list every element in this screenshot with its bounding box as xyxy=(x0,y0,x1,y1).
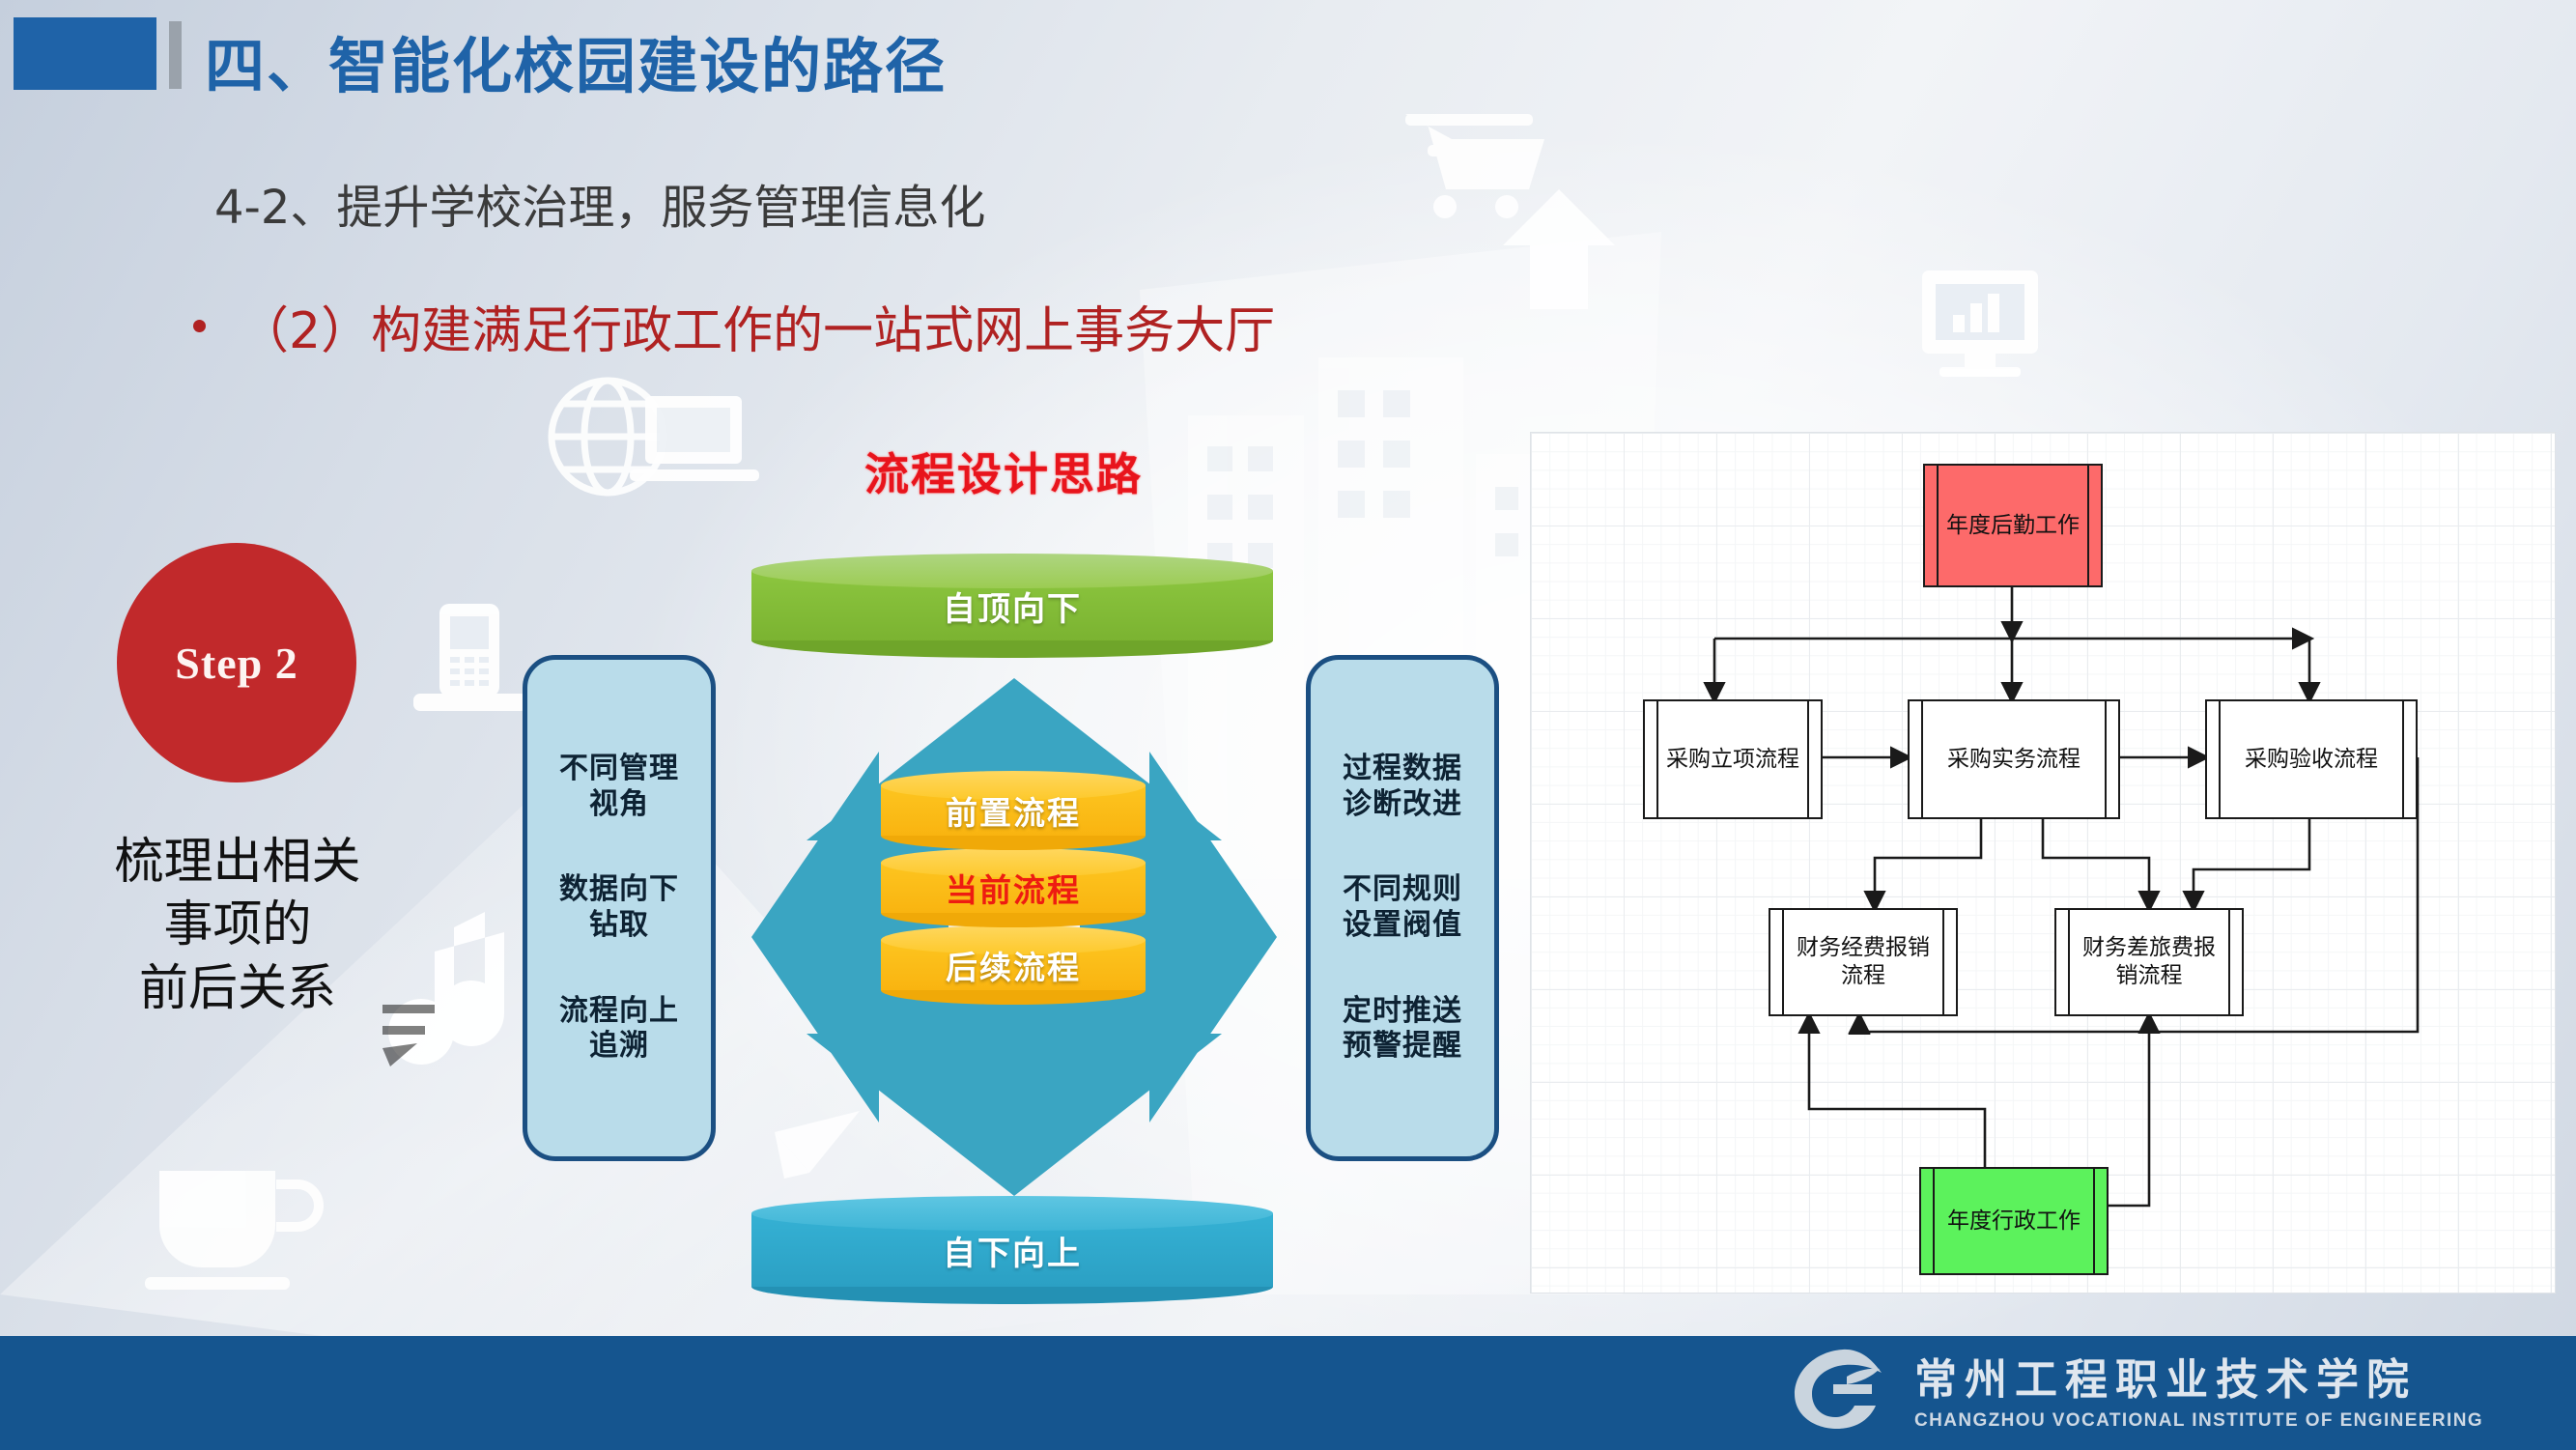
left-info-line: 追溯 xyxy=(559,1029,679,1065)
institution-logo-mark xyxy=(1787,1342,1893,1435)
right-info-line: 过程数据 xyxy=(1343,752,1462,787)
globe-icon xyxy=(552,381,664,493)
flow-node-line: 流程 xyxy=(1841,962,1885,990)
top-down-band: 自顶向下 xyxy=(751,554,1273,658)
slide: 四、智能化校园建设的路径 4-2、提升学校治理，服务管理信息化 （2）构建满足行… xyxy=(0,0,2576,1450)
bullet-text: （2）构建满足行政工作的一站式网上事务大厅 xyxy=(239,290,1275,362)
flow-node-line: 财务经费报销 xyxy=(1797,934,1930,962)
flow-node-expense-reimbursement[interactable]: 财务经费报销 流程 xyxy=(1769,908,1958,1016)
left-info-box: 不同管理 视角 数据向下 钻取 流程向上 追溯 xyxy=(523,655,716,1161)
flow-node-procurement-acceptance[interactable]: 采购验收流程 xyxy=(2205,699,2418,819)
process-cylinder-current: 当前流程 xyxy=(881,848,1146,927)
top-down-label: 自顶向下 xyxy=(751,554,1273,658)
left-info-item: 数据向下 钻取 xyxy=(559,872,679,943)
left-info-item: 不同管理 视角 xyxy=(559,752,679,822)
page-title: 四、智能化校园建设的路径 xyxy=(205,17,947,104)
process-cylinder-preceding: 前置流程 xyxy=(881,771,1146,850)
institution-name-cn: 常州工程职业技术学院 xyxy=(1914,1345,2483,1407)
right-info-line: 定时推送 xyxy=(1343,994,1462,1030)
flow-node-annual-logistics[interactable]: 年度后勤工作 xyxy=(1923,464,2103,587)
institution-logo: 常州工程职业技术学院 CHANGZHOU VOCATIONAL INSTITUT… xyxy=(1787,1342,2483,1435)
right-info-line: 诊断改进 xyxy=(1343,787,1462,823)
bullet-dot-icon xyxy=(193,320,206,332)
mobile-phone-icon xyxy=(413,604,527,711)
laptop-icon xyxy=(630,396,759,481)
flow-node-line: 销流程 xyxy=(2116,962,2183,990)
step-caption-line: 事项的 xyxy=(39,894,437,956)
step-badge-label: Step 2 xyxy=(175,638,297,689)
left-info-line: 数据向下 xyxy=(559,872,679,908)
right-info-item: 定时推送 预警提醒 xyxy=(1343,994,1462,1065)
right-info-box: 过程数据 诊断改进 不同规则 设置阀值 定时推送 预警提醒 xyxy=(1306,655,1499,1161)
header-accent-square xyxy=(14,17,156,90)
institution-name-en: CHANGZHOU VOCATIONAL INSTITUTE OF ENGINE… xyxy=(1914,1410,2483,1432)
right-info-line: 不同规则 xyxy=(1343,872,1462,908)
monitor-chart-icon xyxy=(1922,270,2038,377)
flow-design-title: 流程设计思路 xyxy=(864,440,1143,503)
left-info-line: 不同管理 xyxy=(559,752,679,787)
flow-node-annual-administration[interactable]: 年度行政工作 xyxy=(1919,1167,2109,1275)
cylinder-label: 后续流程 xyxy=(881,925,1146,1005)
cylinder-label: 当前流程 xyxy=(881,848,1146,927)
arrow-up-decoration xyxy=(1503,189,1615,309)
institution-logo-text: 常州工程职业技术学院 CHANGZHOU VOCATIONAL INSTITUT… xyxy=(1914,1345,2483,1432)
left-info-line: 钻取 xyxy=(559,908,679,944)
left-info-line: 流程向上 xyxy=(559,994,679,1030)
bottom-up-label: 自下向上 xyxy=(751,1196,1273,1304)
step-caption-line: 前后关系 xyxy=(39,957,437,1020)
page-subtitle: 4-2、提升学校治理，服务管理信息化 xyxy=(214,169,985,237)
bullet-item: （2）构建满足行政工作的一站式网上事务大厅 xyxy=(193,290,1275,362)
flow-node-procurement-practice[interactable]: 采购实务流程 xyxy=(1908,699,2120,819)
bottom-up-band: 自下向上 xyxy=(751,1196,1273,1304)
step-badge: Step 2 xyxy=(117,543,356,782)
flowchart-panel: 年度后勤工作 采购立项流程 采购实务流程 采购验收流程 财务经费报销 流程 财务… xyxy=(1531,433,2555,1293)
left-info-item: 流程向上 追溯 xyxy=(559,994,679,1065)
flow-node-line: 财务差旅费报 xyxy=(2082,934,2216,962)
flow-node-procurement-initiation[interactable]: 采购立项流程 xyxy=(1643,699,1823,819)
right-info-item: 过程数据 诊断改进 xyxy=(1343,752,1462,822)
right-info-line: 设置阀值 xyxy=(1343,908,1462,944)
step-caption-line: 梳理出相关 xyxy=(39,831,437,894)
footer-bar: 常州工程职业技术学院 CHANGZHOU VOCATIONAL INSTITUT… xyxy=(0,1336,2576,1450)
coffee-cup-icon xyxy=(145,1171,319,1290)
flow-node-travel-reimbursement[interactable]: 财务差旅费报 销流程 xyxy=(2054,908,2244,1016)
right-info-item: 不同规则 设置阀值 xyxy=(1343,872,1462,943)
cart-icon xyxy=(1405,114,1544,218)
process-cylinder-subsequent: 后续流程 xyxy=(881,925,1146,1005)
step-caption: 梳理出相关 事项的 前后关系 xyxy=(39,831,437,1020)
right-info-line: 预警提醒 xyxy=(1343,1029,1462,1065)
left-info-line: 视角 xyxy=(559,787,679,823)
header-accent-bar xyxy=(169,21,182,89)
cylinder-label: 前置流程 xyxy=(881,771,1146,850)
